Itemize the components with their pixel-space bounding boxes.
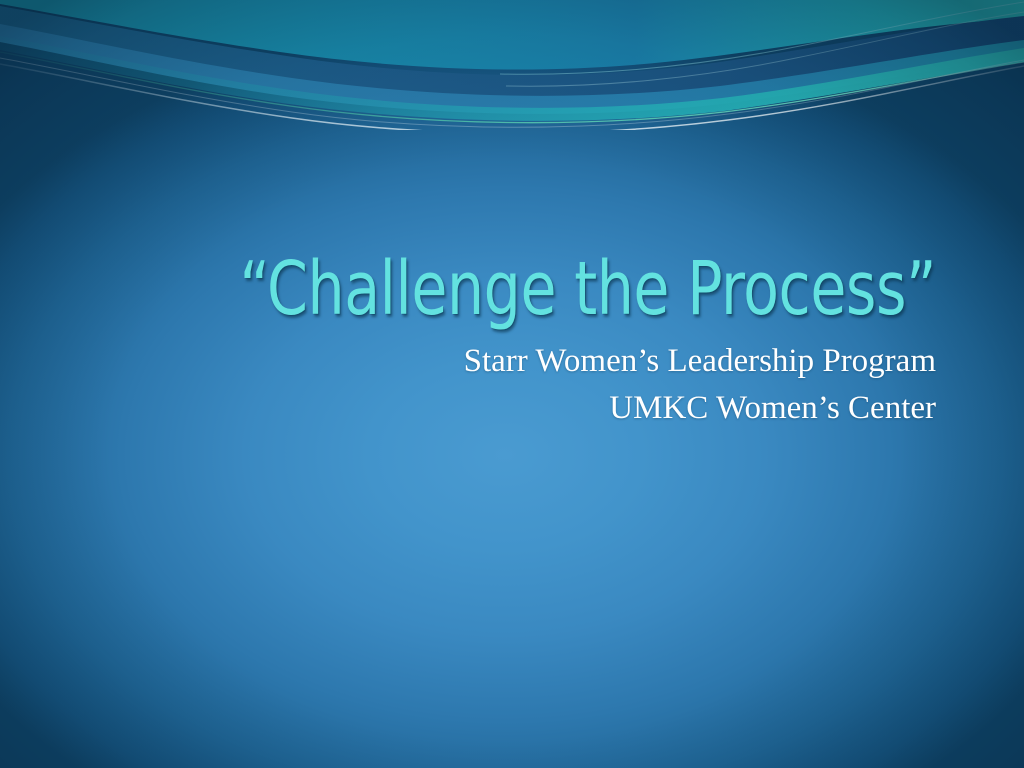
subtitle-line-2: UMKC Women’s Center xyxy=(88,385,936,432)
slide-subtitle: Starr Women’s Leadership Program UMKC Wo… xyxy=(88,338,936,432)
slide-text-block: “Challenge the Process” Starr Women’s Le… xyxy=(88,250,936,432)
wave-decoration xyxy=(0,0,1024,130)
presentation-slide: “Challenge the Process” Starr Women’s Le… xyxy=(0,0,1024,768)
subtitle-line-1: Starr Women’s Leadership Program xyxy=(88,338,936,385)
slide-title: “Challenge the Process” xyxy=(190,250,936,328)
